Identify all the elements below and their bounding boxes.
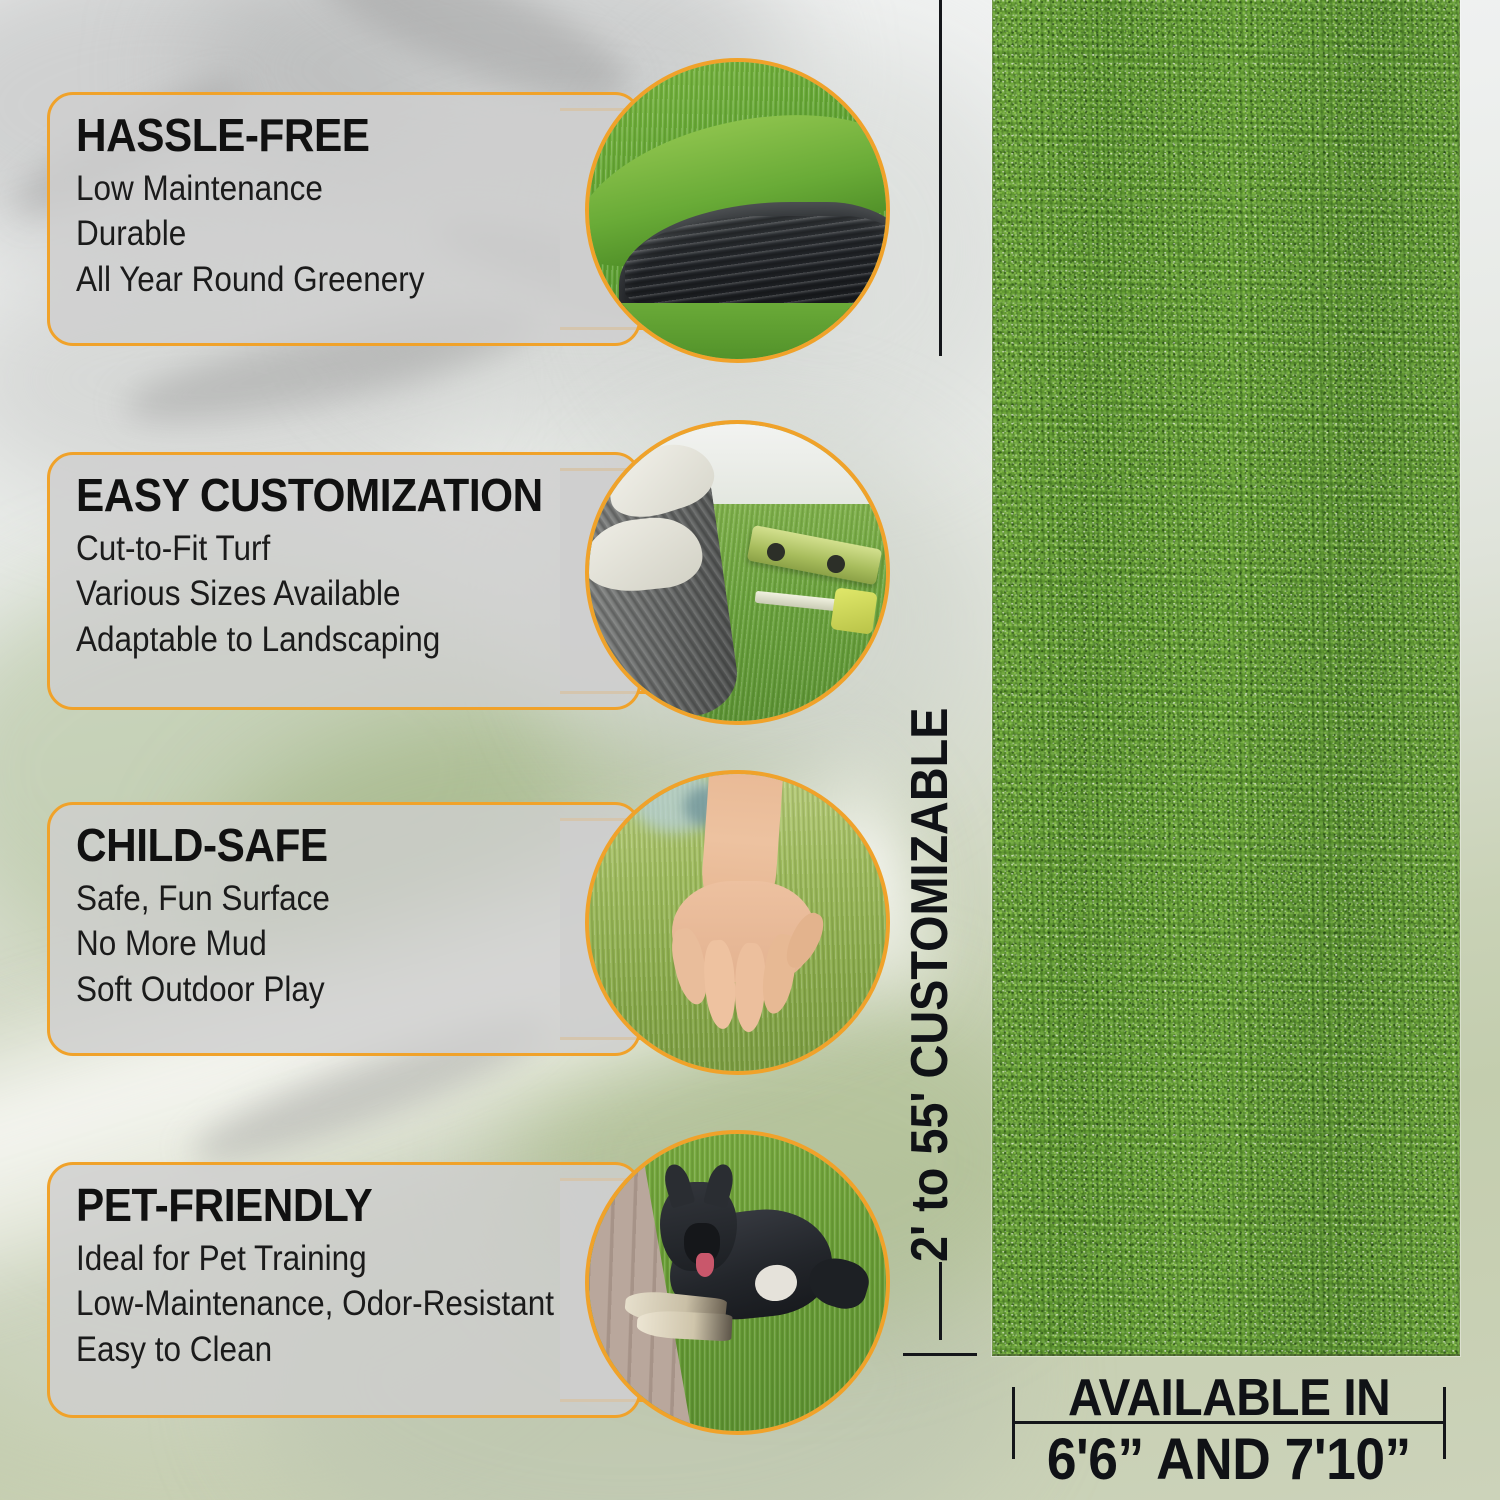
child-hand-on-turf-photo xyxy=(585,770,890,1075)
callout-line: Various Sizes Available xyxy=(76,571,558,617)
length-dimension-text: 2' to 55' CUSTOMIZABLE xyxy=(900,708,960,1262)
callout-line: Adaptable to Landscaping xyxy=(76,617,558,663)
callout-line: Soft Outdoor Play xyxy=(76,967,558,1013)
callout-box-child-safe: CHILD-SAFE Safe, Fun Surface No More Mud… xyxy=(47,802,641,1056)
length-dimension-label: 2' to 55' CUSTOMIZABLE xyxy=(900,646,960,1262)
dimension-cap-bottom xyxy=(903,1353,977,1356)
width-dimension-label-line2: 6'6” AND 7'10” xyxy=(1013,1426,1445,1493)
callout-box-easy-customization: EASY CUSTOMIZATION Cut-to-Fit Turf Vario… xyxy=(47,452,641,710)
callout-line: Safe, Fun Surface xyxy=(76,876,558,922)
callout-title: PET-FRIENDLY xyxy=(76,1181,569,1230)
callout-line: Low-Maintenance, Odor-Resistant xyxy=(76,1281,558,1327)
turf-roll-swatch xyxy=(992,0,1460,1356)
callout-line: Cut-to-Fit Turf xyxy=(76,526,558,572)
callout-title: CHILD-SAFE xyxy=(76,821,569,870)
dimension-line-vertical-top xyxy=(939,0,942,356)
callout-line: No More Mud xyxy=(76,921,558,967)
callout-box-pet-friendly: PET-FRIENDLY Ideal for Pet Training Low-… xyxy=(47,1162,641,1418)
callout-box-hassle-free: HASSLE-FREE Low Maintenance Durable All … xyxy=(47,92,641,346)
infographic-canvas: HASSLE-FREE Low Maintenance Durable All … xyxy=(0,0,1500,1500)
callout-line: Durable xyxy=(76,211,558,257)
callout-line: Low Maintenance xyxy=(76,166,558,212)
turf-roll-cross-section-photo xyxy=(585,58,890,363)
width-dimension-label-line1: AVAILABLE IN xyxy=(1013,1368,1445,1428)
dog-lying-on-turf-photo xyxy=(585,1130,890,1435)
callout-title: HASSLE-FREE xyxy=(76,111,569,160)
callout-line: All Year Round Greenery xyxy=(76,257,558,303)
callout-line: Ideal for Pet Training xyxy=(76,1236,558,1282)
callout-line: Easy to Clean xyxy=(76,1327,558,1373)
dimension-line-vertical-bottom xyxy=(939,1262,942,1340)
callout-title: EASY CUSTOMIZATION xyxy=(76,471,569,520)
gloved-hands-installing-turf-photo xyxy=(585,420,890,725)
